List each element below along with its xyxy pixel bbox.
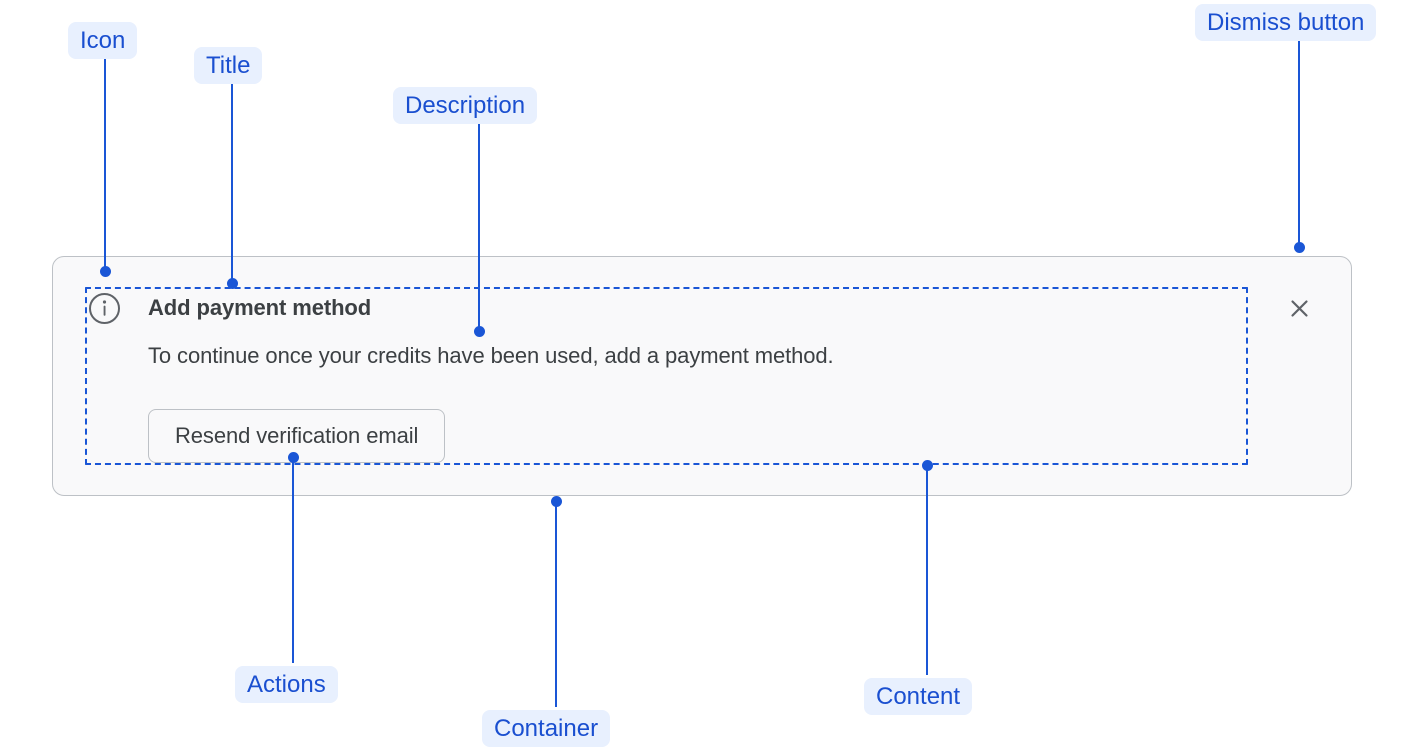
- annotation-label-actions: Actions: [235, 666, 338, 703]
- annotation-line-description: [478, 124, 480, 331]
- annotation-line-container: [555, 501, 557, 707]
- info-circle-icon: [88, 292, 121, 325]
- annotation-label-content: Content: [864, 678, 972, 715]
- annotation-dot-title: [227, 278, 238, 289]
- annotation-label-description: Description: [393, 87, 537, 124]
- dismiss-button[interactable]: [1283, 292, 1316, 325]
- annotation-line-content: [926, 465, 928, 675]
- annotation-line-dismiss-button: [1298, 41, 1300, 247]
- annotation-label-title: Title: [194, 47, 262, 84]
- annotation-line-actions: [292, 457, 294, 663]
- annotation-line-title: [231, 84, 233, 283]
- annotation-line-icon: [104, 59, 106, 271]
- annotation-label-dismiss-button: Dismiss button: [1195, 4, 1376, 41]
- alert-description: To continue once your credits have been …: [148, 340, 834, 372]
- annotated-alert-diagram: Add payment method To continue once your…: [0, 0, 1408, 748]
- annotation-label-container: Container: [482, 710, 610, 747]
- annotation-dot-dismiss-button: [1294, 242, 1305, 253]
- alert-title: Add payment method: [148, 292, 371, 324]
- annotation-dot-icon: [100, 266, 111, 277]
- annotation-dot-description: [474, 326, 485, 337]
- close-icon: [1283, 292, 1316, 325]
- annotation-label-icon: Icon: [68, 22, 137, 59]
